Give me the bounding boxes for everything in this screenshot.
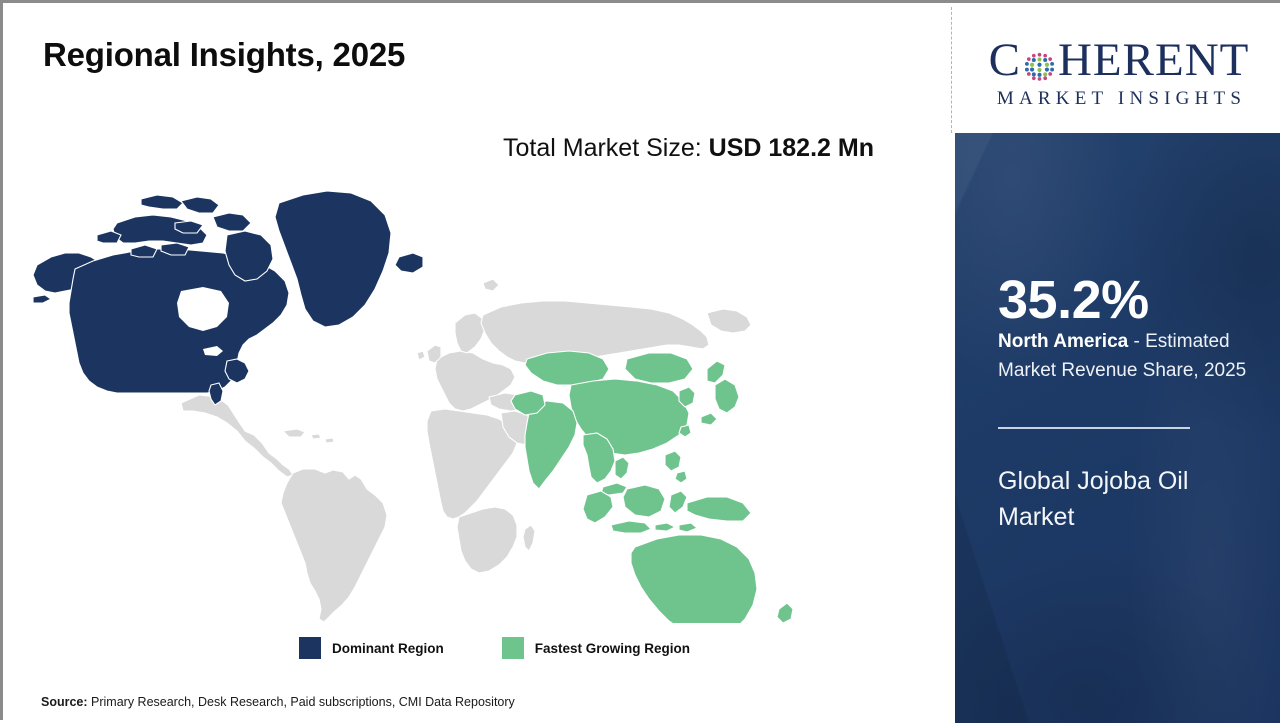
legend-item-dominant: Dominant Region — [299, 637, 444, 659]
source-label: Source: — [41, 695, 88, 709]
logo-text-herent: HERENT — [1058, 37, 1249, 84]
legend-item-fastest-growing: Fastest Growing Region — [502, 637, 690, 659]
source-note: Source: Primary Research, Desk Research,… — [41, 695, 515, 709]
stat-region-name: North America — [998, 331, 1128, 352]
logo-letter-c: C — [989, 37, 1021, 84]
coherent-market-insights-logo: C — [955, 7, 1280, 133]
left-content-pane: Regional Insights, 2025 Total Market Siz… — [3, 3, 951, 723]
highlight-panel: 35.2% North America - Estimated Market R… — [955, 133, 1280, 723]
source-text: Primary Research, Desk Research, Paid su… — [88, 695, 515, 709]
vertical-dashed-divider — [951, 7, 952, 133]
legend-label-fastest-growing: Fastest Growing Region — [535, 641, 690, 656]
legend-swatch-fastest-growing — [502, 637, 524, 659]
legend-swatch-dominant — [299, 637, 321, 659]
world-map-svg — [31, 173, 901, 623]
map-fastest-growing-regions — [511, 351, 799, 623]
market-name: Global Jojoba Oil Market — [998, 463, 1268, 536]
logo-wordmark: C — [989, 37, 1250, 84]
map-legend: Dominant Region Fastest Growing Region — [299, 637, 690, 659]
legend-label-dominant: Dominant Region — [332, 641, 444, 656]
market-size-label: Total Market Size: — [503, 134, 709, 162]
stat-description: North America - Estimated Market Revenue… — [998, 328, 1266, 386]
map-dominant-regions — [33, 191, 423, 405]
page-title: Regional Insights, 2025 — [43, 36, 405, 74]
total-market-size: Total Market Size: USD 182.2 Mn — [503, 129, 923, 168]
logo-subtext: MARKET INSIGHTS — [992, 88, 1246, 110]
infographic-root: Regional Insights, 2025 Total Market Siz… — [0, 0, 1280, 720]
globe-icon — [1022, 46, 1057, 81]
market-size-value: USD 182.2 Mn — [709, 134, 874, 162]
world-map — [31, 173, 901, 623]
stat-percentage: 35.2% — [998, 269, 1149, 331]
panel-divider — [998, 427, 1190, 429]
